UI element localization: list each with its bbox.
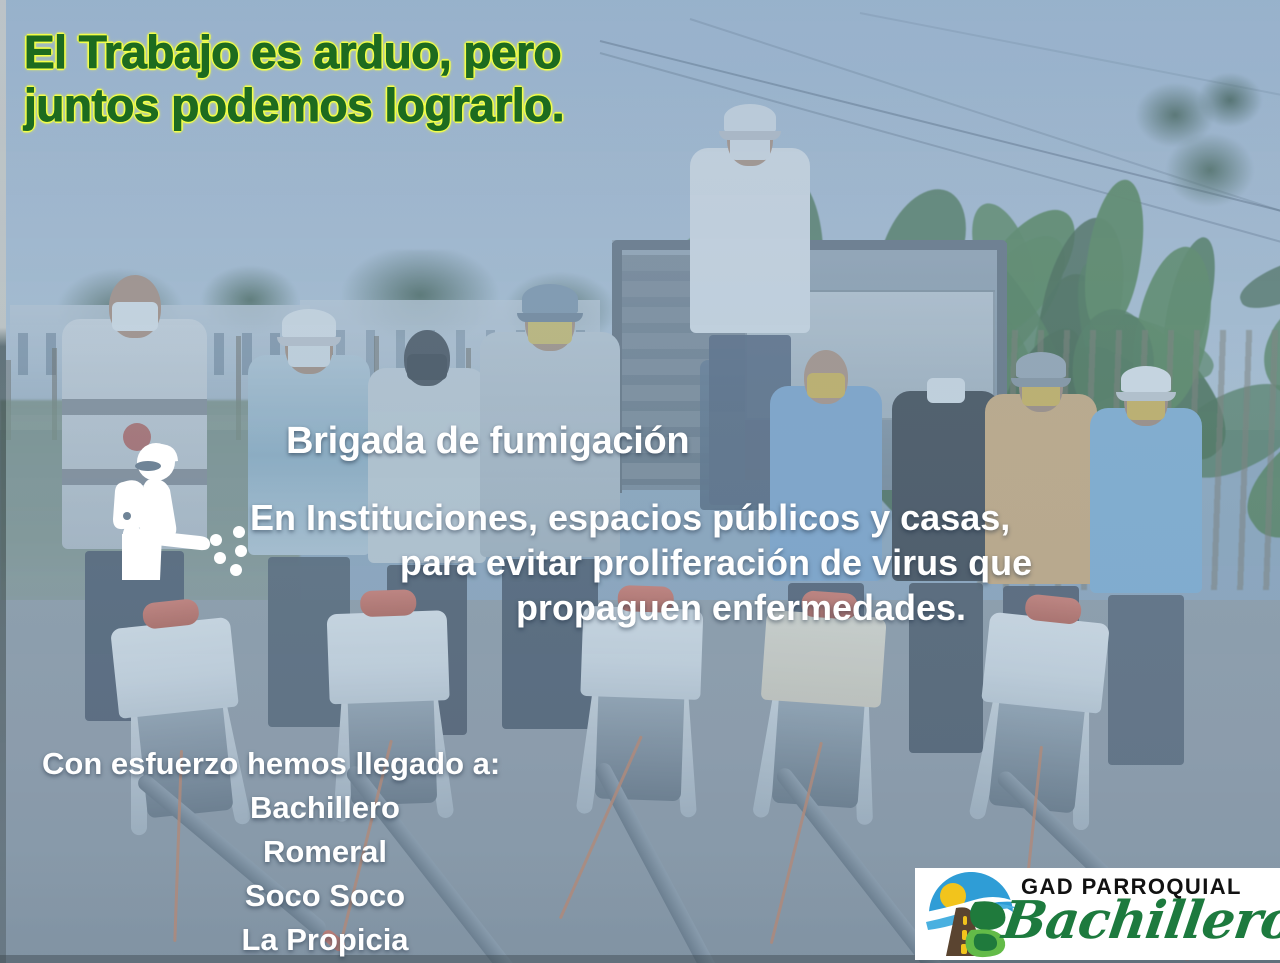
logo-org-name: Bachillero [999,890,1280,951]
headline-line-2: juntos podemos lograrlo. [24,79,724,132]
subtitle: En Instituciones, espacios públicos y ca… [250,495,1240,630]
page-title: Brigada de fumigación [286,420,906,463]
subtitle-line-1: En Instituciones, espacios públicos y ca… [250,495,1240,540]
subtitle-line-3: propaguen enfermedades. [250,585,1240,630]
headline: El Trabajo es arduo, pero juntos podemos… [24,26,724,133]
subtitle-line-2: para evitar proliferación de virus que [250,540,1240,585]
poster-canvas: El Trabajo es arduo, pero juntos podemos… [0,0,1280,963]
reached-place: Soco Soco [30,874,620,918]
organization-logo: GAD PARROQUIAL Bachillero [915,868,1280,960]
reached-place: Romeral [30,830,620,874]
frame-edge-left [0,0,6,963]
reached-place: Bachillero [30,786,620,830]
reached-place: La Propicia [30,918,620,962]
reached-lead: Con esfuerzo hemos llegado a: [30,742,620,786]
headline-line-1: El Trabajo es arduo, pero [24,26,724,79]
reached-locations: Con esfuerzo hemos llegado a: Bachillero… [30,742,620,962]
